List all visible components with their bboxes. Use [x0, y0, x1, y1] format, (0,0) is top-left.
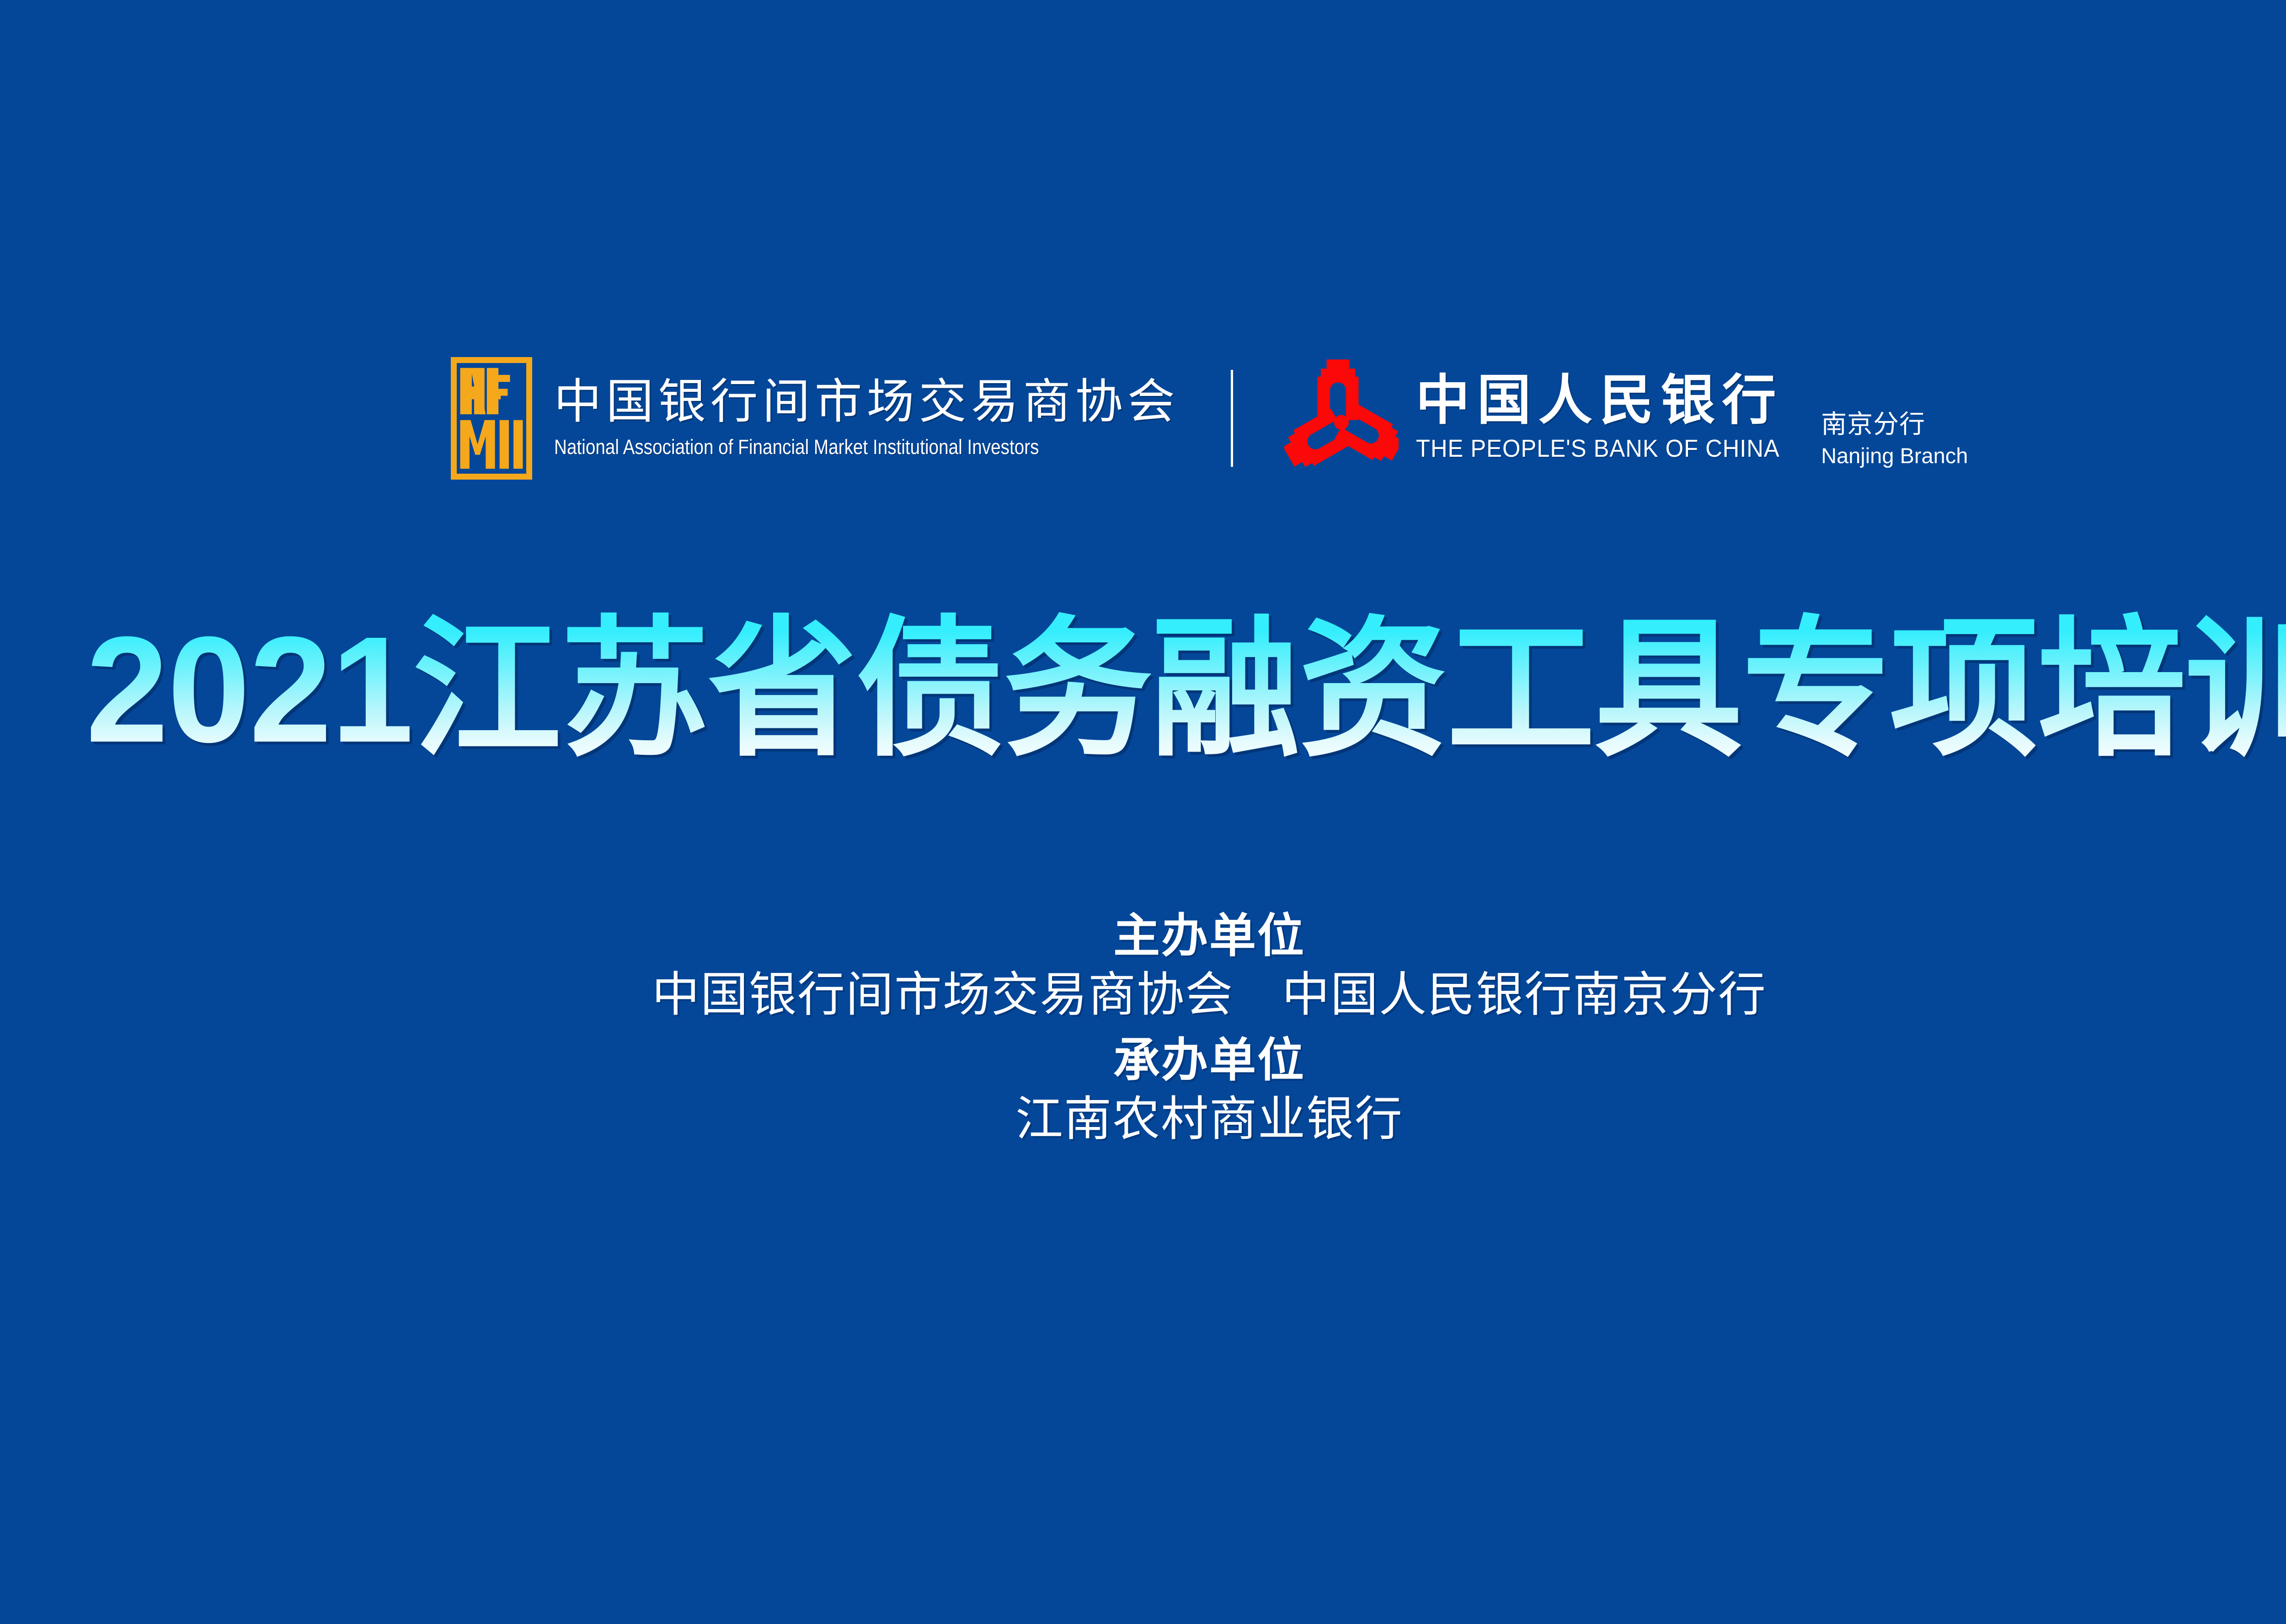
pboc-logo-block: 中国人民银行 THE PEOPLE'S BANK OF CHINA 南京分行 N…: [1284, 357, 1968, 480]
nafmii-name-cn: 中国银行间市场交易商协会: [554, 377, 1180, 427]
page-title: 2021江苏省债务融资工具专项培训: [18, 608, 2286, 771]
nafmii-logo-block: 中国银行间市场交易商协会 National Association of Fin…: [451, 357, 1180, 480]
host-names: 中国银行间市场交易商协会 中国人民银行南京分行: [0, 964, 2286, 1026]
pboc-branch-en: Nanjing Branch: [1821, 443, 1968, 469]
pboc-branch-cn: 南京分行: [1821, 410, 1968, 439]
pboc-text-block: 中国人民银行 THE PEOPLE'S BANK OF CHINA: [1416, 373, 1803, 464]
logo-row: 中国银行间市场交易商协会 National Association of Fin…: [0, 347, 2286, 489]
nafmii-emblem-icon: [451, 357, 532, 480]
logo-divider: [1231, 370, 1233, 467]
host-label: 主办单位: [0, 908, 2286, 964]
nafmii-name-en: National Association of Financial Market…: [554, 435, 1092, 459]
pboc-branch-block: 南京分行 Nanjing Branch: [1821, 410, 1968, 480]
organizer-names: 江南农村商业银行: [0, 1089, 2286, 1150]
organizer-label: 承办单位: [0, 1032, 2286, 1089]
poster-canvas: 中国银行间市场交易商协会 National Association of Fin…: [0, 0, 2286, 1624]
pboc-name-en: THE PEOPLE'S BANK OF CHINA: [1416, 434, 1780, 464]
nafmii-text-block: 中国银行间市场交易商协会 National Association of Fin…: [554, 377, 1180, 459]
organizer-spacer: [0, 1026, 2286, 1032]
organizer-section: 主办单位 中国银行间市场交易商协会 中国人民银行南京分行 承办单位 江南农村商业…: [0, 908, 2286, 1150]
pboc-emblem-icon: [1284, 357, 1399, 480]
pboc-name-cn: 中国人民银行: [1416, 373, 1803, 429]
